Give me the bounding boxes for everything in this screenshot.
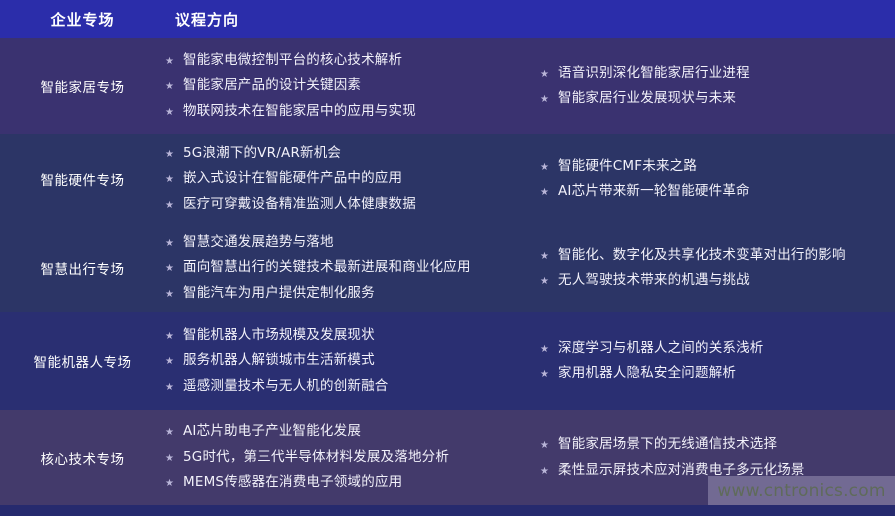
star-bullet-icon: ★ — [540, 345, 558, 355]
star-bullet-icon: ★ — [165, 454, 183, 464]
star-bullet-icon: ★ — [540, 467, 558, 477]
topic-item: ★AI芯片助电子产业智能化发展 — [165, 419, 530, 445]
topic-item: ★家用机器人隐私安全问题解析 — [540, 361, 895, 387]
topic-item: ★智能汽车为用户提供定制化服务 — [165, 281, 530, 307]
topic-item: ★智能家居产品的设计关键因素 — [165, 73, 530, 99]
star-bullet-icon: ★ — [540, 188, 558, 198]
cell-agenda-topics: ★5G浪潮下的VR/AR新机会★嵌入式设计在智能硬件产品中的应用★医疗可穿戴设备… — [165, 141, 895, 218]
topic-column-left: ★AI芯片助电子产业智能化发展★5G时代，第三代半导体材料发展及落地分析★MEM… — [165, 419, 530, 496]
cell-agenda-topics: ★智能机器人市场规模及发展现状★服务机器人解锁城市生活新模式★遥感测量技术与无人… — [165, 323, 895, 400]
topic-item: ★服务机器人解锁城市生活新模式 — [165, 348, 530, 374]
topic-label: 智能机器人市场规模及发展现状 — [183, 329, 375, 343]
topic-label: AI芯片带来新一轮智能硬件革命 — [558, 185, 750, 199]
topic-item: ★无人驾驶技术带来的机遇与挑战 — [540, 268, 895, 294]
table-row: 智慧出行专场★智慧交通发展趋势与落地★面向智慧出行的关键技术最新进展和商业化应用… — [0, 224, 895, 312]
table-body: 智能家居专场★智能家电微控制平台的核心技术解析★智能家居产品的设计关键因素★物联… — [0, 38, 895, 505]
topic-column-right: ★智能化、数字化及共享化技术变革对出行的影响★无人驾驶技术带来的机遇与挑战 — [530, 243, 895, 294]
topic-label: 面向智慧出行的关键技术最新进展和商业化应用 — [183, 261, 471, 275]
bottom-strip — [0, 505, 895, 516]
topic-label: 柔性显示屏技术应对消费电子多元化场景 — [558, 464, 805, 478]
cell-company-track: 智慧出行专场 — [0, 258, 165, 278]
topic-label: 5G时代，第三代半导体材料发展及落地分析 — [183, 451, 449, 465]
star-bullet-icon: ★ — [540, 370, 558, 380]
topic-item: ★5G浪潮下的VR/AR新机会 — [165, 141, 530, 167]
topic-label: 5G浪潮下的VR/AR新机会 — [183, 147, 341, 161]
topic-column-left: ★智慧交通发展趋势与落地★面向智慧出行的关键技术最新进展和商业化应用★智能汽车为… — [165, 230, 530, 307]
topic-label: 无人驾驶技术带来的机遇与挑战 — [558, 274, 750, 288]
topic-item: ★面向智慧出行的关键技术最新进展和商业化应用 — [165, 255, 530, 281]
star-bullet-icon: ★ — [165, 479, 183, 489]
topic-column-left: ★智能机器人市场规模及发展现状★服务机器人解锁城市生活新模式★遥感测量技术与无人… — [165, 323, 530, 400]
cell-company-track: 智能家居专场 — [0, 76, 165, 96]
topic-label: 智能家居行业发展现状与未来 — [558, 92, 736, 106]
cell-agenda-topics: ★智能家电微控制平台的核心技术解析★智能家居产品的设计关键因素★物联网技术在智能… — [165, 48, 895, 125]
star-bullet-icon: ★ — [540, 95, 558, 105]
topic-item: ★医疗可穿戴设备精准监测人体健康数据 — [165, 192, 530, 218]
topic-item: ★物联网技术在智能家居中的应用与实现 — [165, 99, 530, 125]
star-bullet-icon: ★ — [165, 108, 183, 118]
topic-label: 语音识别深化智能家居行业进程 — [558, 67, 750, 81]
star-bullet-icon: ★ — [165, 383, 183, 393]
table-header-row: 企业专场 议程方向 — [0, 0, 895, 38]
topic-item: ★语音识别深化智能家居行业进程 — [540, 61, 895, 87]
topic-label: 医疗可穿戴设备精准监测人体健康数据 — [183, 198, 416, 212]
topic-label: 遥感测量技术与无人机的创新融合 — [183, 380, 389, 394]
topic-item: ★智能化、数字化及共享化技术变革对出行的影响 — [540, 243, 895, 269]
star-bullet-icon: ★ — [165, 428, 183, 438]
watermark: www.cntronics.com — [708, 476, 895, 505]
topic-item: ★智能机器人市场规模及发展现状 — [165, 323, 530, 349]
topic-column-right: ★智能硬件CMF未来之路★AI芯片带来新一轮智能硬件革命 — [530, 154, 895, 205]
topic-item: ★遥感测量技术与无人机的创新融合 — [165, 374, 530, 400]
topic-item: ★深度学习与机器人之间的关系浅析 — [540, 336, 895, 362]
star-bullet-icon: ★ — [165, 57, 183, 67]
star-bullet-icon: ★ — [165, 201, 183, 211]
column-header-company: 企业专场 — [0, 9, 165, 30]
topic-label: 智能汽车为用户提供定制化服务 — [183, 287, 375, 301]
topic-label: 智慧交通发展趋势与落地 — [183, 236, 334, 250]
topic-label: 深度学习与机器人之间的关系浅析 — [558, 342, 764, 356]
topic-label: 嵌入式设计在智能硬件产品中的应用 — [183, 172, 402, 186]
topic-item: ★MEMS传感器在消费电子领域的应用 — [165, 470, 530, 496]
star-bullet-icon: ★ — [540, 70, 558, 80]
topic-label: 物联网技术在智能家居中的应用与实现 — [183, 105, 416, 119]
topic-label: 智能硬件CMF未来之路 — [558, 160, 697, 174]
star-bullet-icon: ★ — [540, 277, 558, 287]
topic-column-left: ★5G浪潮下的VR/AR新机会★嵌入式设计在智能硬件产品中的应用★医疗可穿戴设备… — [165, 141, 530, 218]
cell-company-track: 核心技术专场 — [0, 448, 165, 468]
star-bullet-icon: ★ — [165, 239, 183, 249]
star-bullet-icon: ★ — [540, 252, 558, 262]
topic-item: ★嵌入式设计在智能硬件产品中的应用 — [165, 166, 530, 192]
topic-label: 家用机器人隐私安全问题解析 — [558, 367, 736, 381]
star-bullet-icon: ★ — [540, 441, 558, 451]
topic-column-right: ★深度学习与机器人之间的关系浅析★家用机器人隐私安全问题解析 — [530, 336, 895, 387]
topic-label: AI芯片助电子产业智能化发展 — [183, 425, 361, 439]
column-header-agenda: 议程方向 — [165, 9, 239, 30]
topic-item: ★智能家居行业发展现状与未来 — [540, 86, 895, 112]
topic-label: MEMS传感器在消费电子领域的应用 — [183, 476, 402, 490]
star-bullet-icon: ★ — [165, 82, 183, 92]
topic-label: 智能化、数字化及共享化技术变革对出行的影响 — [558, 249, 846, 263]
topic-item: ★智能硬件CMF未来之路 — [540, 154, 895, 180]
table-row: 智能机器人专场★智能机器人市场规模及发展现状★服务机器人解锁城市生活新模式★遥感… — [0, 312, 895, 410]
star-bullet-icon: ★ — [540, 163, 558, 173]
table-row: 智能硬件专场★5G浪潮下的VR/AR新机会★嵌入式设计在智能硬件产品中的应用★医… — [0, 134, 895, 224]
topic-label: 智能家居产品的设计关键因素 — [183, 79, 361, 93]
topic-column-left: ★智能家电微控制平台的核心技术解析★智能家居产品的设计关键因素★物联网技术在智能… — [165, 48, 530, 125]
agenda-table: 企业专场 议程方向 智能家居专场★智能家电微控制平台的核心技术解析★智能家居产品… — [0, 0, 895, 516]
cell-company-track: 智能机器人专场 — [0, 351, 165, 371]
topic-item: ★5G时代，第三代半导体材料发展及落地分析 — [165, 445, 530, 471]
topic-label: 服务机器人解锁城市生活新模式 — [183, 354, 375, 368]
topic-label: 智能家居场景下的无线通信技术选择 — [558, 438, 777, 452]
star-bullet-icon: ★ — [165, 290, 183, 300]
star-bullet-icon: ★ — [165, 332, 183, 342]
topic-item: ★AI芯片带来新一轮智能硬件革命 — [540, 179, 895, 205]
star-bullet-icon: ★ — [165, 264, 183, 274]
star-bullet-icon: ★ — [165, 357, 183, 367]
topic-item: ★智能家电微控制平台的核心技术解析 — [165, 48, 530, 74]
star-bullet-icon: ★ — [165, 175, 183, 185]
star-bullet-icon: ★ — [165, 150, 183, 160]
topic-item: ★智慧交通发展趋势与落地 — [165, 230, 530, 256]
table-row: 智能家居专场★智能家电微控制平台的核心技术解析★智能家居产品的设计关键因素★物联… — [0, 38, 895, 134]
cell-agenda-topics: ★智慧交通发展趋势与落地★面向智慧出行的关键技术最新进展和商业化应用★智能汽车为… — [165, 230, 895, 307]
topic-label: 智能家电微控制平台的核心技术解析 — [183, 54, 402, 68]
topic-item: ★智能家居场景下的无线通信技术选择 — [540, 432, 895, 458]
cell-company-track: 智能硬件专场 — [0, 169, 165, 189]
topic-column-right: ★语音识别深化智能家居行业进程★智能家居行业发展现状与未来 — [530, 61, 895, 112]
